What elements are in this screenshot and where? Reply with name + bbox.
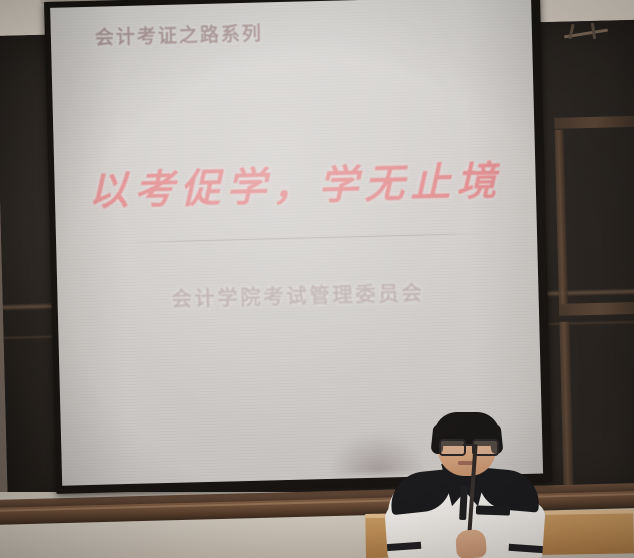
slide-title-text: 以考促学，学无止境 — [54, 148, 536, 218]
speaker — [386, 412, 546, 558]
blackboard-frame-top-right — [554, 116, 634, 129]
speaker-hand — [455, 529, 487, 558]
eyeglasses-icon — [438, 439, 496, 452]
eyeglasses-bridge — [463, 444, 472, 446]
slide-divider-rule — [122, 233, 485, 243]
screen-mount-bracket-icon — [564, 22, 610, 42]
photo-scene: 会计考证之路系列 以考促学，学无止境 会计学院考试管理委员会 — [0, 0, 634, 558]
slide-header-text: 会计考证之路系列 — [95, 18, 264, 49]
speaker-shirt-pocket — [476, 505, 510, 515]
slide-subtitle-text: 会计学院考试管理委员会 — [57, 274, 539, 315]
eyeglasses-lens-left — [439, 439, 466, 456]
blackboard-frame-crossbar — [559, 302, 634, 316]
